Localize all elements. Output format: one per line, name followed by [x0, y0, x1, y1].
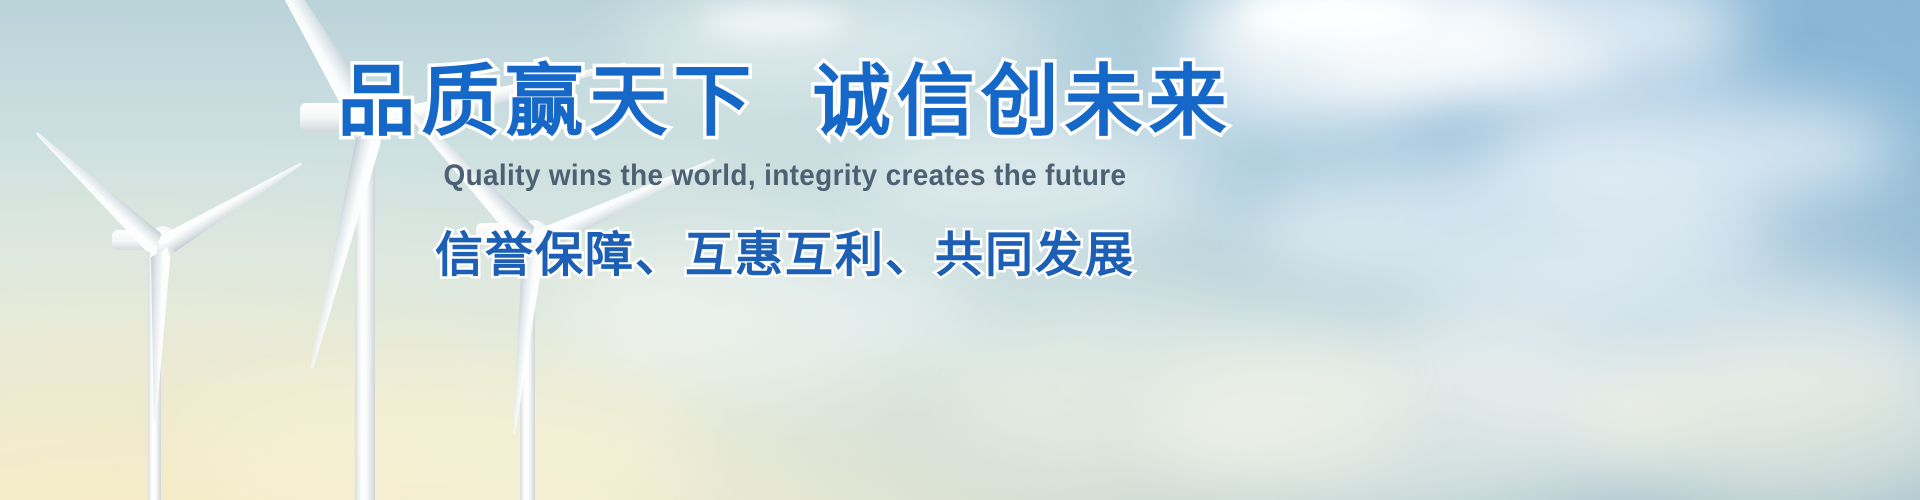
cloud-shape: [1160, 55, 1440, 129]
turbine-blade: [28, 124, 169, 257]
wind-turbine-right: [330, 60, 810, 500]
cloud-shape: [940, 300, 1420, 480]
turbine-blade: [378, 79, 544, 254]
cloud-shape: [860, 120, 1220, 230]
cloud-shape: [700, 8, 850, 38]
turbine-blade: [529, 149, 720, 255]
hero-banner: 品质赢天下 诚信创未来 Quality wins the world, inte…: [0, 0, 1920, 500]
